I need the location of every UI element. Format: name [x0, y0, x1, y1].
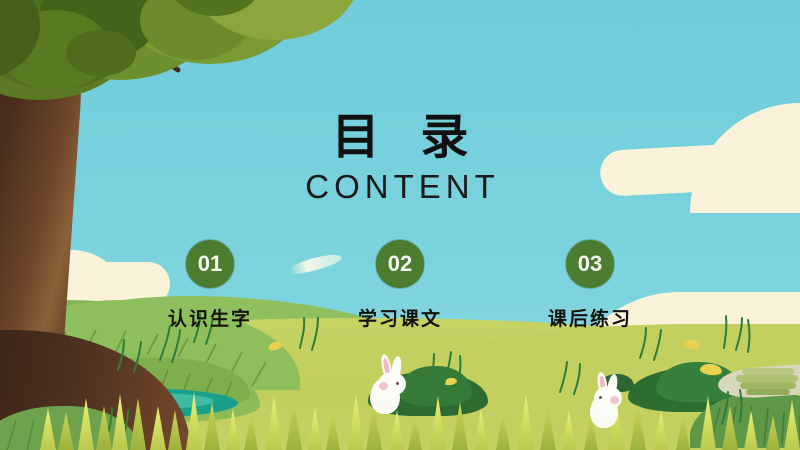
- rabbit-cheek: [610, 396, 619, 404]
- toc-number-badge[interactable]: 03: [566, 240, 614, 288]
- presentation-slide: 目 录 CONTENT 01 认识生字 02 学习课文 03 课后练习: [0, 0, 800, 450]
- toc-item-label: 课后练习: [530, 304, 650, 331]
- toc-number-badge[interactable]: 01: [186, 240, 234, 288]
- toc-item-label: 认识生字: [150, 304, 270, 331]
- toc-item-03[interactable]: 03 课后练习: [530, 240, 650, 331]
- toc-item-01[interactable]: 01 认识生字: [150, 240, 270, 331]
- rabbit-eye: [396, 382, 399, 385]
- rabbit-right: [586, 372, 632, 428]
- toc-item-label: 学习课文: [340, 304, 460, 331]
- tree-canopy-icon: [66, 30, 136, 76]
- rabbit-cheek: [379, 382, 388, 390]
- toc-item-02[interactable]: 02 学习课文: [340, 240, 460, 331]
- rabbit-center: [366, 356, 418, 414]
- toc-number-badge[interactable]: 02: [376, 240, 424, 288]
- table-of-contents: 01 认识生字 02 学习课文 03 课后练习: [150, 240, 650, 331]
- rabbit-eye: [599, 396, 602, 399]
